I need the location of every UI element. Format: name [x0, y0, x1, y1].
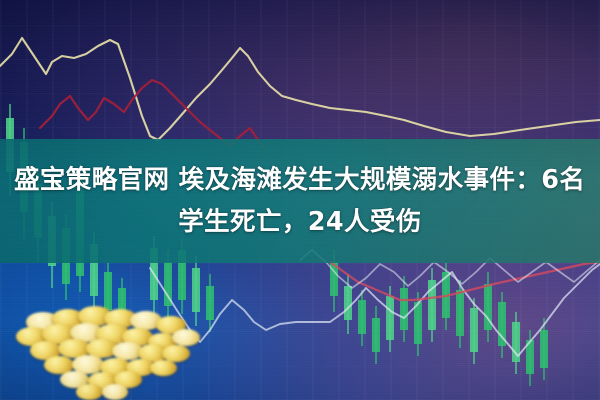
- news-thumbnail-image: 盛宝策略官网 埃及海滩发生大规模溺水事件：6名 学生死亡，24人受伤: [0, 0, 600, 400]
- headline-line-1: 盛宝策略官网 埃及海滩发生大规模溺水事件：6名: [0, 160, 600, 200]
- headline-line-2: 学生死亡，24人受伤: [178, 202, 422, 242]
- headline-text-block: 盛宝策略官网 埃及海滩发生大规模溺水事件：6名 学生死亡，24人受伤: [0, 139, 600, 263]
